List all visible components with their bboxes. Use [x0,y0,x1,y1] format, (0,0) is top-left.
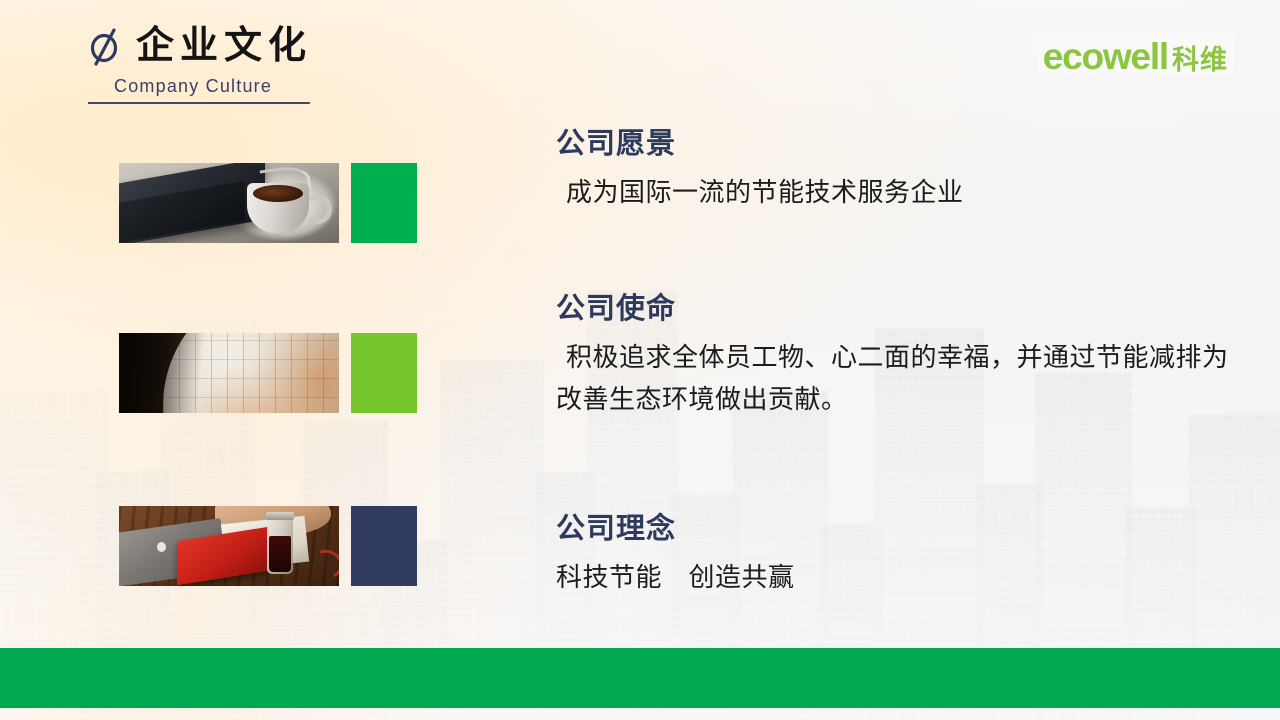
slashed-circle-icon [88,26,122,66]
globe-map-photo [119,333,339,413]
section-body: 科技节能 创造共赢 [556,556,795,598]
section-body: 积极追求全体员工物、心二面的幸福，并通过节能减排为改善生态环境做出贡献。 [556,336,1246,420]
content-column: 公司愿景 成为国际一流的节能技术服务企业 公司使命 积极追求全体员工物、心二面的… [556,0,1256,720]
section-philosophy: 公司理念 科技节能 创造共赢 [556,514,795,598]
section-body: 成为国际一流的节能技术服务企业 [556,171,964,213]
navy-swatch [351,506,417,586]
section-heading: 公司理念 [556,514,795,546]
section-heading: 公司愿景 [556,129,964,161]
slide-canvas: 企业文化 Company Culture ecowell 科维 [0,0,1280,720]
media-row [119,163,417,243]
notebook-and-coffee-photo [119,163,339,243]
green-swatch [351,163,417,243]
light-green-swatch [351,333,417,413]
section-mission: 公司使命 积极追求全体员工物、心二面的幸福，并通过节能减排为改善生态环境做出贡献… [556,294,1246,420]
footer-bar [0,648,1280,708]
media-column [119,0,429,720]
section-heading: 公司使命 [556,294,1246,326]
laptop-and-red-notebook-photo [119,506,339,586]
section-vision: 公司愿景 成为国际一流的节能技术服务企业 [556,129,964,213]
media-row [119,506,417,586]
media-row [119,333,417,413]
